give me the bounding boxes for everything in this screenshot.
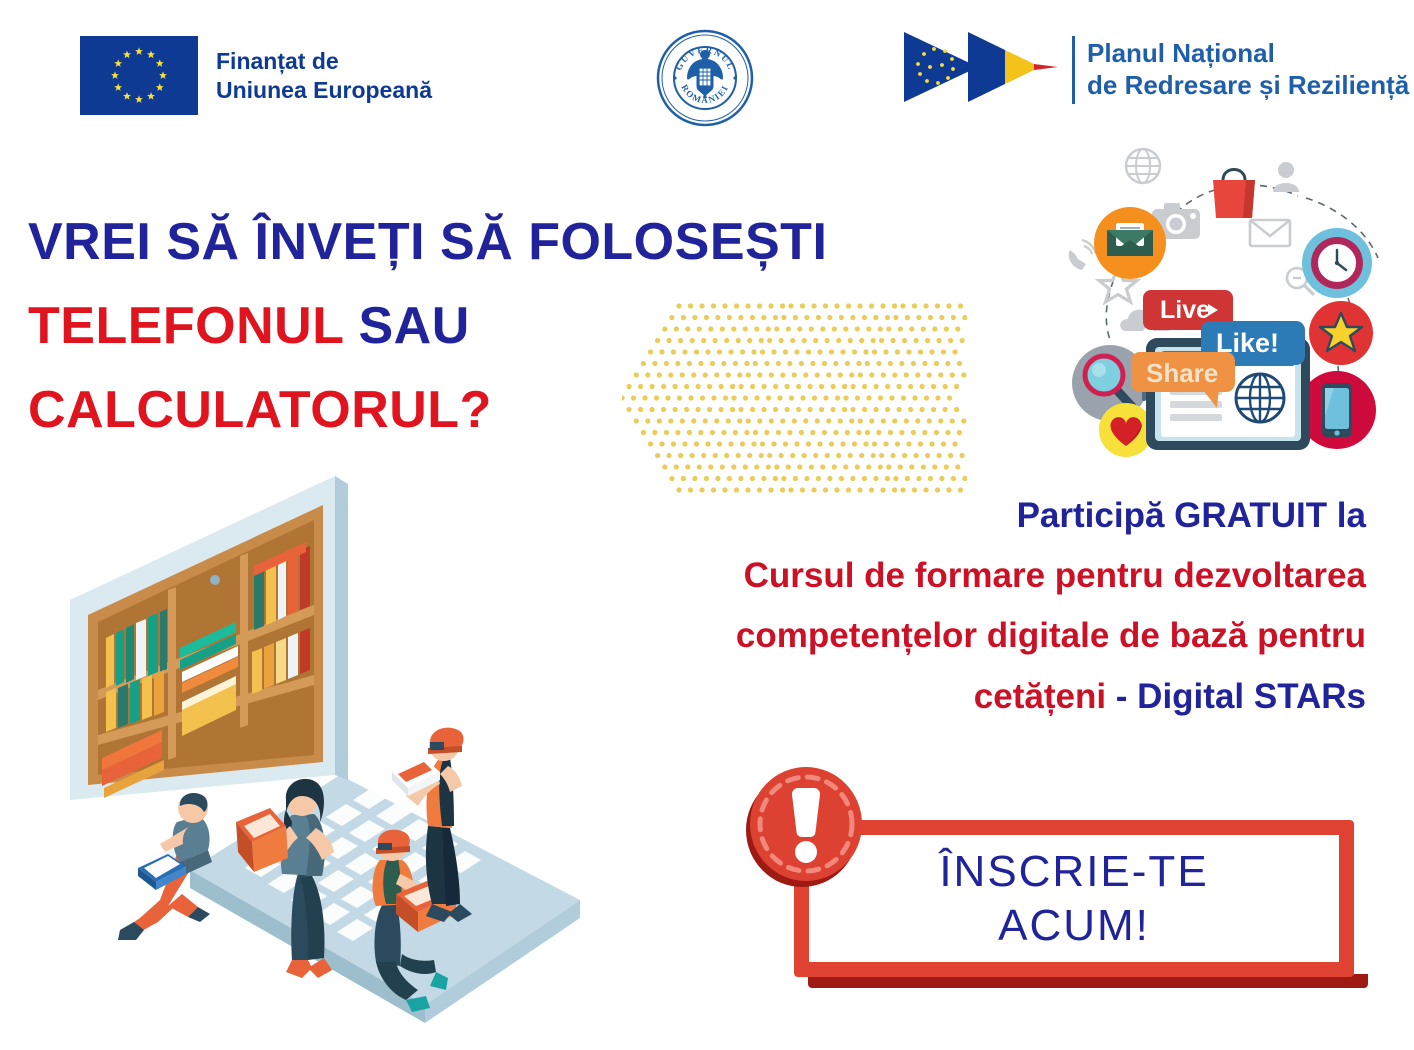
eu-logo-line1: Finanțat de xyxy=(216,47,432,76)
european-union-flag-icon xyxy=(80,36,198,115)
poster-root: Finanțat de Uniunea Europeană GUVERNUL R… xyxy=(0,0,1414,1050)
eu-funding-logo: Finanțat de Uniunea Europeană xyxy=(80,36,432,115)
person-icon xyxy=(1273,162,1299,192)
mail-icon xyxy=(1250,220,1290,246)
eu-stars xyxy=(80,36,198,115)
cta-line-1: ÎNSCRIE-TE xyxy=(939,845,1208,899)
romanian-government-seal-icon: GUVERNUL ROMÂNIEI xyxy=(655,28,755,128)
envelope-icon xyxy=(1094,207,1166,279)
pnrr-logo-line2: de Redresare și Reziliență xyxy=(1087,70,1409,101)
body-digital-stars: - Digital STARs xyxy=(1106,677,1366,716)
star-icon xyxy=(1309,301,1373,365)
shopping-bag-icon xyxy=(1213,170,1255,219)
dotted-chevron-pattern xyxy=(622,300,967,500)
pnrr-divider xyxy=(1072,36,1075,104)
pnrr-logo: Planul Național de Redresare și Rezilien… xyxy=(900,28,1409,111)
globe-icon xyxy=(1126,149,1160,183)
heart-icon xyxy=(1099,403,1153,457)
headline-line-1: VREI SĂ ÎNVEȚI SĂ FOLOSEȘTI xyxy=(28,200,928,284)
body-copy: Participă GRATUIT la Cursul de formare p… xyxy=(556,486,1366,727)
body-line-1: Participă GRATUIT la xyxy=(556,486,1366,546)
digital-icons-cluster: Live Like! Share xyxy=(1048,138,1408,473)
cta-box[interactable]: ÎNSCRIE-TE ACUM! xyxy=(794,820,1354,977)
headline-sau: SAU xyxy=(344,297,470,355)
eu-logo-line2: Uniunea Europeană xyxy=(216,76,432,105)
body-line-4: cetățeni - Digital STARs xyxy=(556,667,1366,727)
share-bubble-label: Share xyxy=(1146,358,1218,388)
exclamation-mark-icon xyxy=(742,762,870,890)
phone-signal-icon xyxy=(1069,240,1096,270)
headline-telefonul: TELEFONUL xyxy=(28,297,344,355)
pnrr-logo-text: Planul Național de Redresare și Rezilien… xyxy=(1087,38,1409,100)
eu-logo-text: Finanțat de Uniunea Europeană xyxy=(216,47,432,105)
pnrr-logo-line1: Planul Național xyxy=(1087,38,1409,69)
cta-line-2: ACUM! xyxy=(998,899,1150,953)
browser-globe-icon xyxy=(1236,374,1284,422)
live-bubble-label: Live xyxy=(1160,296,1210,324)
clock-icon xyxy=(1302,228,1372,298)
enroll-cta[interactable]: ÎNSCRIE-TE ACUM! xyxy=(742,762,1402,1012)
body-cetateni: cetățeni xyxy=(974,677,1106,716)
logo-bar: Finanțat de Uniunea Europeană GUVERNUL R… xyxy=(0,0,1414,140)
laptop-bookshelf-illustration xyxy=(40,470,610,1045)
body-line-3: competențelor digitale de bază pentru xyxy=(556,606,1366,666)
body-line-2: Cursul de formare pentru dezvoltarea xyxy=(556,546,1366,606)
pnrr-arrows-icon xyxy=(900,28,1060,111)
reader-person-1 xyxy=(118,793,212,940)
